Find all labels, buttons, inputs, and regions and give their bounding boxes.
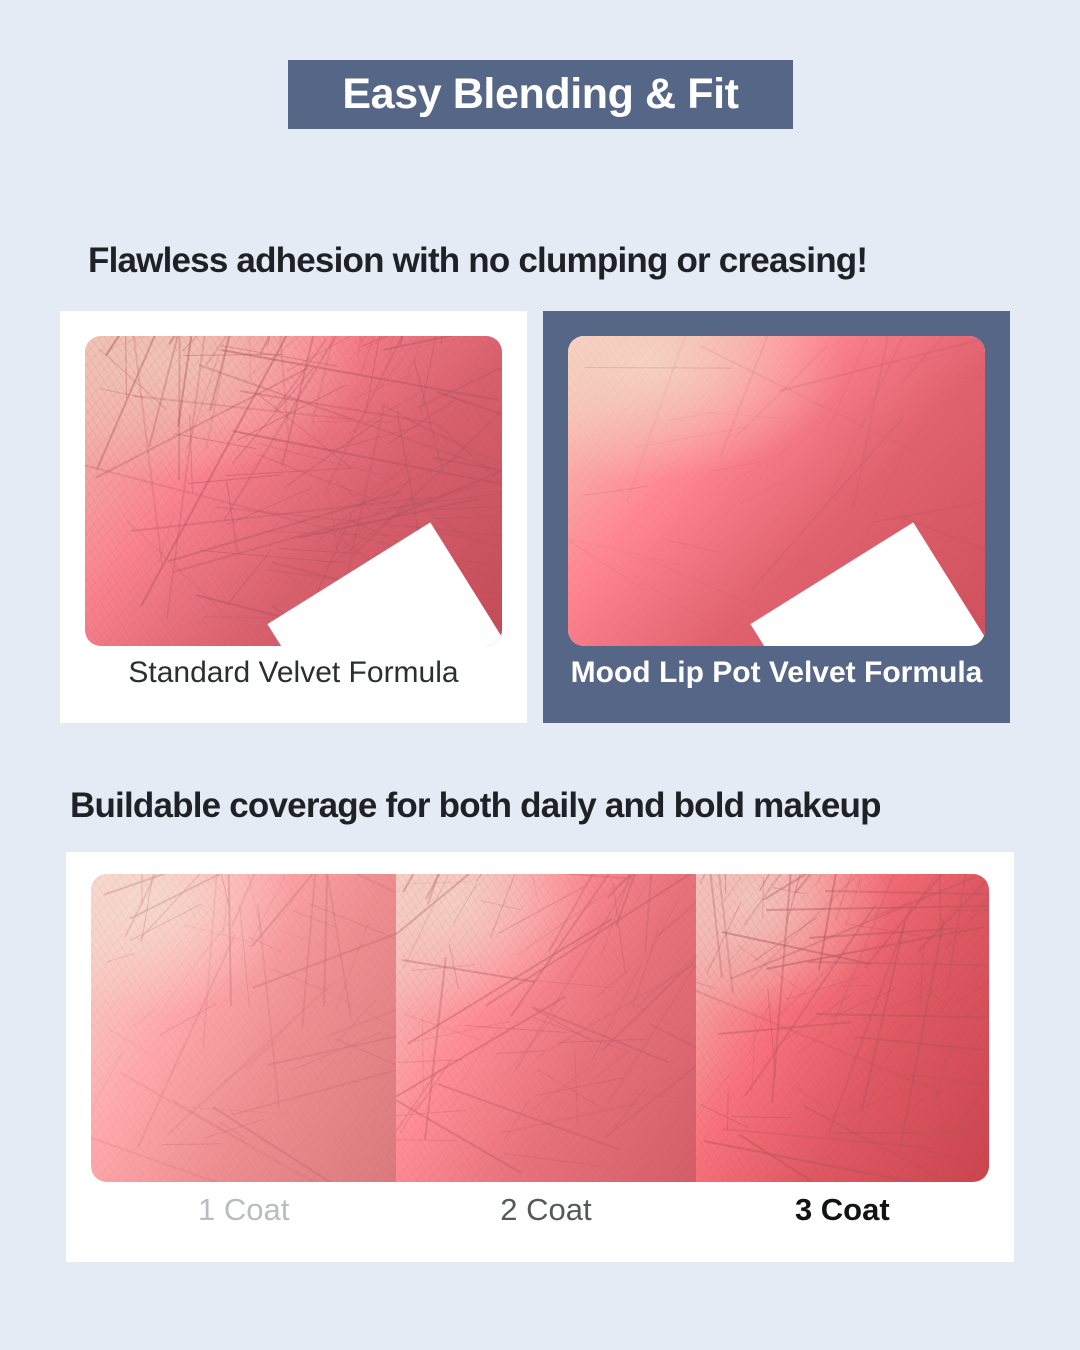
palm-crease-lines	[396, 874, 695, 1182]
palm-crease-lines	[696, 874, 989, 1182]
coat-swatch-2	[396, 874, 695, 1182]
comparison-panel-mood: Mood Lip Pot Velvet Formula	[543, 311, 1010, 723]
palm-swatch-render	[396, 874, 695, 1182]
comparison-panel-standard: Standard Velvet Formula	[60, 311, 527, 723]
palm-crease-lines	[91, 874, 396, 1182]
palm-swatch-render	[696, 874, 989, 1182]
coverage-card: 1 Coat2 Coat3 Coat	[66, 852, 1014, 1262]
page-title-banner: Easy Blending & Fit	[288, 60, 793, 129]
coat-label-1: 1 Coat	[91, 1192, 396, 1228]
coverage-swatch-strip	[91, 874, 989, 1182]
section-heading-coverage: Buildable coverage for both daily and bo…	[70, 786, 881, 826]
coat-label-3: 3 Coat	[696, 1192, 989, 1228]
palm-swatch-render	[91, 874, 396, 1182]
comparison-caption-mood: Mood Lip Pot Velvet Formula	[543, 656, 1010, 690]
page-title: Easy Blending & Fit	[342, 70, 738, 119]
palm-swatch-render	[568, 336, 985, 646]
section-heading-adhesion: Flawless adhesion with no clumping or cr…	[88, 241, 867, 281]
swatch-photo-standard-velvet	[85, 336, 502, 646]
coat-swatch-3	[696, 874, 989, 1182]
coat-swatch-1	[91, 874, 396, 1182]
palm-swatch-render	[85, 336, 502, 646]
swatch-photo-mood-lip-pot	[568, 336, 985, 646]
coat-label-row: 1 Coat2 Coat3 Coat	[91, 1192, 989, 1228]
comparison-caption-standard: Standard Velvet Formula	[60, 656, 527, 690]
coat-label-2: 2 Coat	[396, 1192, 695, 1228]
